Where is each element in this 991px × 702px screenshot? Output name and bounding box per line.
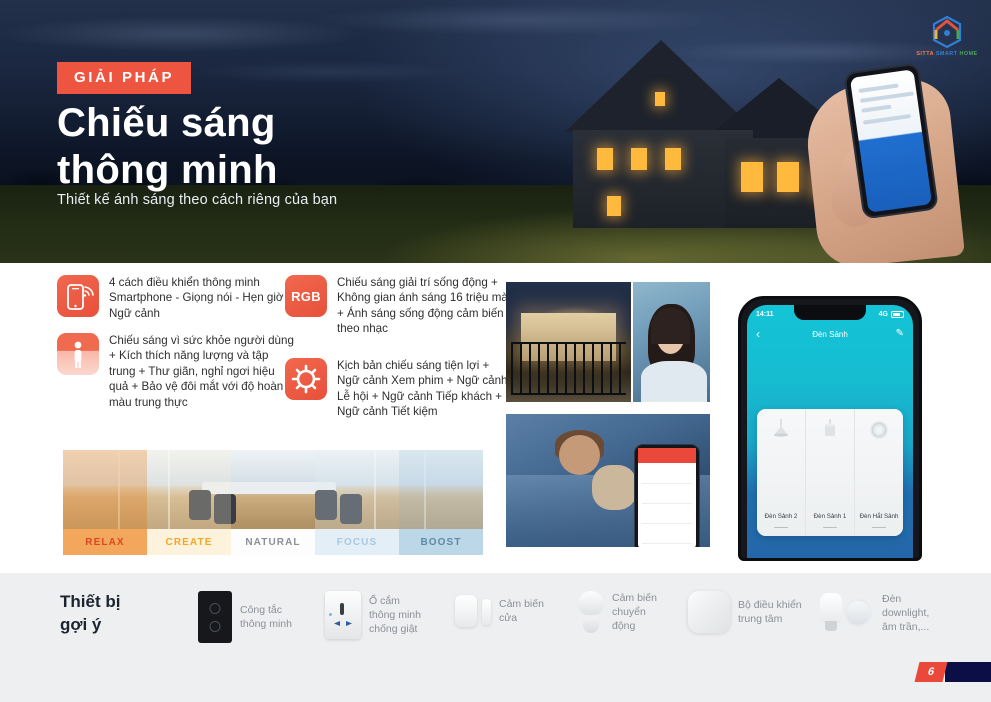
app-phone-mockup: 14:11 4G ‹ Đèn Sảnh ✎ Đèn Sảnh 2 xyxy=(738,296,922,561)
app-navbar: ‹ Đèn Sảnh ✎ xyxy=(747,325,913,343)
downlight-icon xyxy=(818,591,874,635)
gear-icon xyxy=(285,358,327,400)
mood-label-create: CREATE xyxy=(147,529,231,555)
feature-item-health: Chiếu sáng vì sức khỏe người dùng + Kích… xyxy=(57,333,297,410)
page-number: 6 xyxy=(914,662,947,682)
battery-icon xyxy=(891,311,904,318)
motion-sensor-icon xyxy=(578,591,604,633)
strip-title-line2: gợi ý xyxy=(60,614,180,637)
device-label: Cảm biến chuyển động xyxy=(612,591,657,634)
device-card-list: Đèn Sảnh 2 Đèn Sảnh 1 xyxy=(757,409,903,536)
device-card-label: Đèn Sảnh 1 xyxy=(814,513,847,520)
phone-notch xyxy=(794,305,866,320)
door-sensor-icon xyxy=(455,591,491,631)
hero-title: Chiếu sáng thông minh xyxy=(57,100,577,194)
hero-title-line1: Chiếu sáng xyxy=(57,100,577,147)
mood-label-focus: FOCUS xyxy=(315,529,399,555)
recommended-devices-strip: Thiết bị gợi ý Công tắc thông minh Ổ cắm… xyxy=(0,573,991,702)
device-label: Công tắc thông minh xyxy=(240,603,292,631)
device-item-switch[interactable]: Công tắc thông minh xyxy=(198,591,292,643)
device-item-socket[interactable]: Ổ cắm thông minh chống giật xyxy=(325,591,421,639)
rgb-icon: RGB xyxy=(285,275,327,317)
device-label: Bộ điều khiển trung tâm xyxy=(738,598,802,626)
mood-label-boost: BOOST xyxy=(399,529,483,555)
pendant-lamp-icon xyxy=(769,418,793,442)
feature-text: Chiếu sáng vì sức khỏe người dùng + Kích… xyxy=(109,333,294,410)
photo-sleeping-child xyxy=(506,414,710,547)
cylinder-lamp-icon xyxy=(818,418,842,442)
feature-item-scenes: Kịch bản chiếu sáng tiện lợi + Ngữ cảnh … xyxy=(285,358,515,420)
logo-wordmark: SITTA SMART HOME xyxy=(915,51,979,57)
brand-logo: SITTA SMART HOME xyxy=(915,14,979,64)
page-number-badge: 6 xyxy=(917,662,991,682)
device-card[interactable]: Đèn Sảnh 1 xyxy=(806,409,855,536)
mood-label-relax: RELAX xyxy=(63,529,147,555)
mood-lighting-image: RELAX CREATE NATURAL FOCUS BOOST xyxy=(63,450,483,555)
feature-text: 4 cách điều khiển thông minh Smartphone … xyxy=(109,275,294,321)
feature-text: Chiếu sáng giải trí sống động + Không gi… xyxy=(337,275,515,337)
inset-phone-mockup xyxy=(634,444,700,547)
device-label: Đèn downlight, âm trần,... xyxy=(882,592,929,635)
app-screen: 14:11 4G ‹ Đèn Sảnh ✎ Đèn Sảnh 2 xyxy=(747,305,913,558)
device-item-door-sensor[interactable]: Cảm biến cửa xyxy=(455,591,544,631)
photo-woman-with-phone xyxy=(633,282,710,402)
chevron-left-icon[interactable]: ‹ xyxy=(756,328,760,340)
mood-label-bar: RELAX CREATE NATURAL FOCUS BOOST xyxy=(63,529,483,555)
rgb-icon-label: RGB xyxy=(285,275,327,317)
smartphone-wifi-icon xyxy=(57,275,99,317)
smart-switch-icon xyxy=(198,591,232,643)
feature-item-rgb: RGB Chiếu sáng giải trí sống động + Khôn… xyxy=(285,275,515,337)
device-card-label: Đèn Sảnh 2 xyxy=(765,513,798,520)
ring-light-icon xyxy=(867,418,891,442)
strip-title-line1: Thiết bị xyxy=(60,591,180,614)
page-badge-bar xyxy=(945,662,991,682)
device-item-hub[interactable]: Bộ điều khiển trung tâm xyxy=(688,591,802,633)
hero-badge: GIẢI PHÁP xyxy=(57,62,191,94)
hero-banner: GIẢI PHÁP Chiếu sáng thông minh Thiết kế… xyxy=(0,0,991,263)
status-time: 14:11 xyxy=(756,311,774,318)
feature-item-control: 4 cách điều khiển thông minh Smartphone … xyxy=(57,275,297,321)
device-item-downlight[interactable]: Đèn downlight, âm trần,... xyxy=(818,591,929,635)
device-card[interactable]: Đèn Hắt Sảnh xyxy=(855,409,903,536)
hub-icon xyxy=(688,591,730,633)
device-card-label: Đèn Hắt Sảnh xyxy=(860,513,899,520)
feature-text: Kịch bản chiếu sáng tiện lợi + Ngữ cảnh … xyxy=(337,358,515,420)
hero-title-line2: thông minh xyxy=(57,147,577,194)
status-network: 4G xyxy=(879,311,888,318)
device-item-motion-sensor[interactable]: Cảm biến chuyển động xyxy=(578,591,657,634)
hero-subtitle: Thiết kế ánh sáng theo cách riêng của bạ… xyxy=(57,192,337,208)
logo-hexagon-house-icon xyxy=(925,14,969,50)
device-card[interactable]: Đèn Sảnh 2 xyxy=(757,409,806,536)
app-title: Đèn Sảnh xyxy=(812,330,848,339)
smart-socket-icon xyxy=(325,591,361,639)
mood-label-natural: NATURAL xyxy=(231,529,315,555)
device-label: Cảm biến cửa xyxy=(499,597,544,625)
pencil-icon[interactable]: ✎ xyxy=(896,329,904,339)
person-health-icon xyxy=(57,333,99,375)
strip-title: Thiết bị gợi ý xyxy=(60,591,180,637)
device-label: Ổ cắm thông minh chống giật xyxy=(369,594,421,637)
photo-house-exterior xyxy=(506,282,631,402)
